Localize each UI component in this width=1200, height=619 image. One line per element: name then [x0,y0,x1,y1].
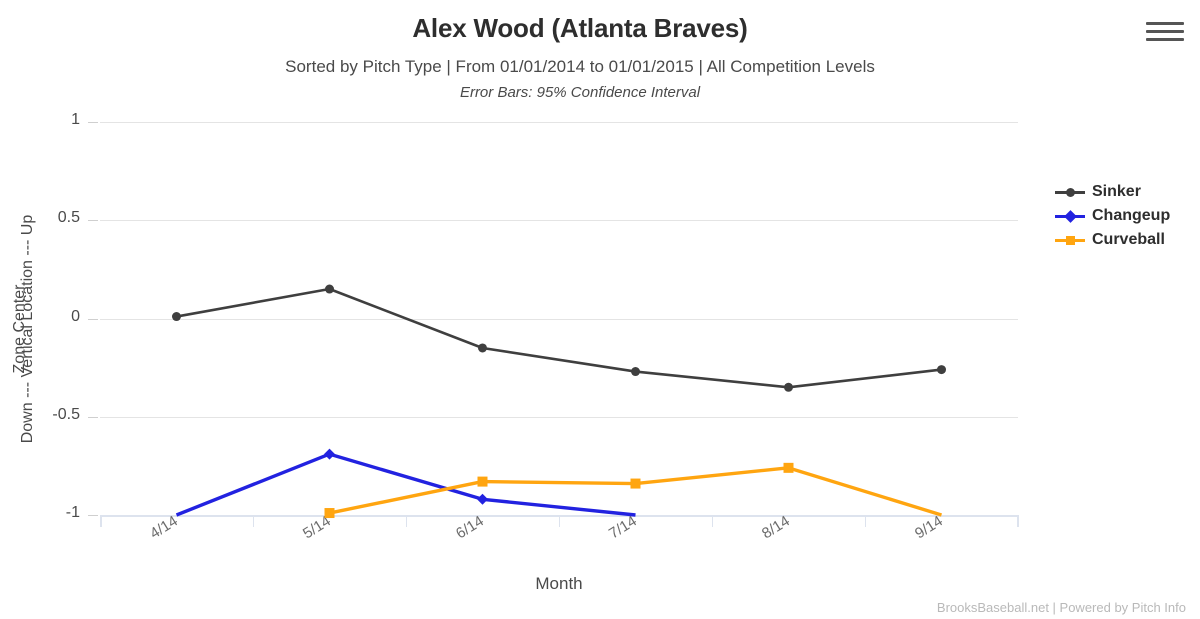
x-tick-mark [1018,515,1019,527]
legend-symbol [1066,188,1075,197]
gridline [100,417,1018,418]
x-tick-mark [406,515,407,527]
y-tick-mark [88,122,98,123]
data-point-square [478,477,488,487]
legend-item-curveball[interactable]: Curveball [1055,228,1200,252]
series-changeup [177,449,636,515]
series-sinker [172,285,946,392]
legend-label: Curveball [1092,231,1165,249]
legend-marker-diamond-icon [1055,209,1085,223]
data-point-circle [937,365,946,374]
y-tick-label: 1 [10,111,80,129]
y-axis-label-inner: Zone Center [11,204,29,454]
data-point-circle [784,383,793,392]
y-tick-mark [88,319,98,320]
data-point-circle [325,285,334,294]
data-point-circle [478,343,487,352]
data-point-square [784,463,794,473]
legend-item-changeup[interactable]: Changeup [1055,204,1200,228]
gridline [100,319,1018,320]
x-axis-label: Month [100,574,1018,594]
legend-label: Changeup [1092,207,1170,225]
x-tick-label: 6/14 [453,513,487,543]
data-point-diamond [477,494,488,505]
footer-attribution: BrooksBaseball.net | Powered by Pitch In… [937,600,1186,615]
x-tick-mark [253,515,254,527]
x-tick-label: 4/14 [147,513,181,543]
x-tick-mark [865,515,866,527]
y-tick-mark [88,220,98,221]
data-point-diamond [324,449,335,460]
x-tick-mark [100,515,101,527]
data-point-circle [172,312,181,321]
legend-label: Sinker [1092,183,1141,201]
x-tick-label: 5/14 [300,513,334,543]
series-line [330,468,942,515]
menu-bar-2 [1146,30,1184,33]
x-tick-label: 7/14 [606,513,640,543]
gridline [100,122,1018,123]
series-line [177,454,636,515]
chart-title: Alex Wood (Atlanta Braves) [0,13,1160,44]
x-tick-label: 8/14 [759,513,793,543]
chart-subtitle-error-bars: Error Bars: 95% Confidence Interval [0,84,1160,101]
y-tick-label: -1 [10,504,80,522]
legend-symbol [1066,236,1075,245]
menu-bar-3 [1146,38,1184,41]
legend-item-sinker[interactable]: Sinker [1055,180,1200,204]
chart-page: Alex Wood (Atlanta Braves) Sorted by Pit… [0,0,1200,619]
chart-subtitle: Sorted by Pitch Type | From 01/01/2014 t… [0,57,1160,77]
gridline [100,220,1018,221]
series-line [177,289,942,387]
y-tick-mark [88,515,98,516]
legend-marker-square-icon [1055,233,1085,247]
x-tick-mark [712,515,713,527]
x-tick-label: 9/14 [912,513,946,543]
y-tick-mark [88,417,98,418]
series-curveball [325,463,942,518]
data-point-circle [631,367,640,376]
data-point-square [631,479,641,489]
legend: SinkerChangeupCurveball [1055,180,1200,252]
x-tick-mark [559,515,560,527]
menu-bar-1 [1146,22,1184,25]
legend-marker-circle-icon [1055,185,1085,199]
legend-symbol [1064,210,1077,223]
hamburger-menu-icon[interactable] [1146,22,1184,52]
